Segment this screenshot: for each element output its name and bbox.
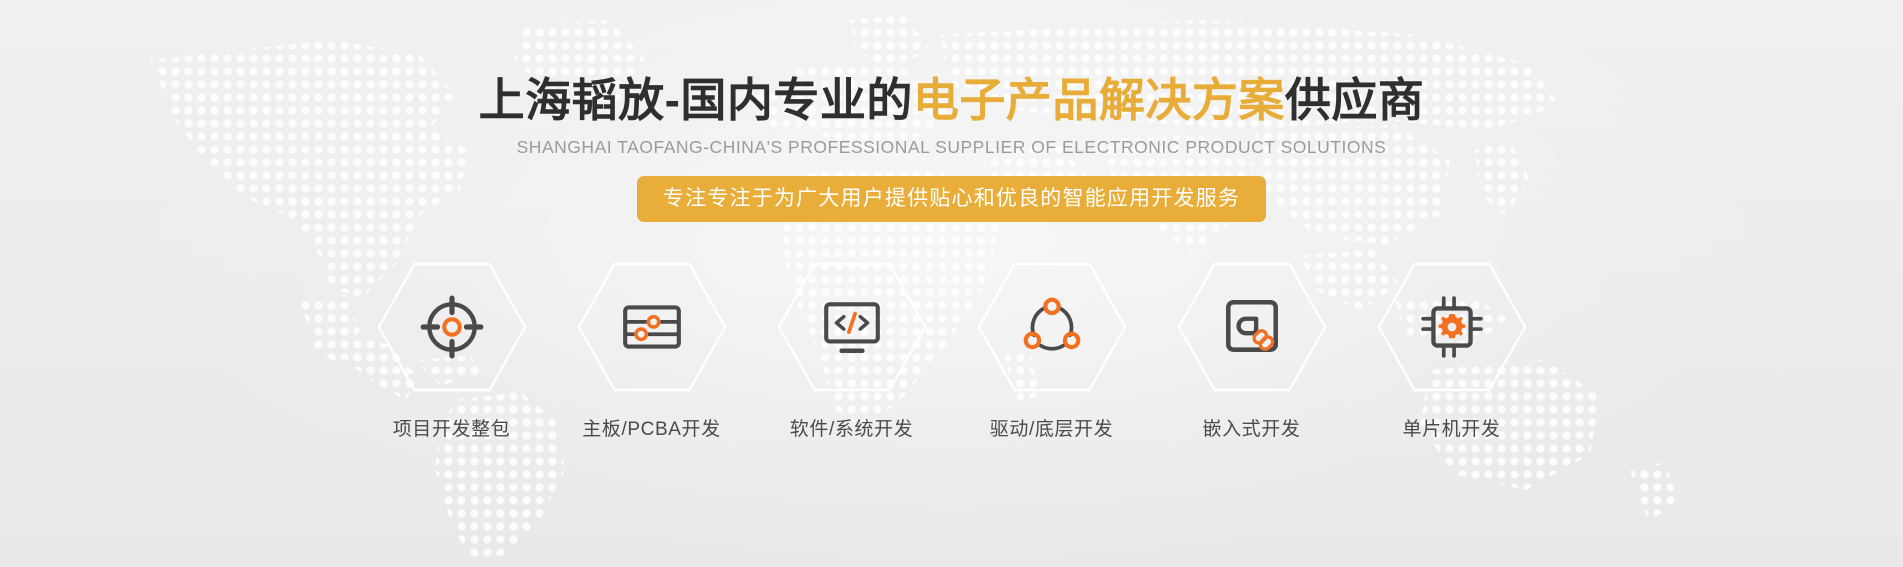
hex-frame [977,262,1127,392]
service-item-pcba[interactable]: 主板/PCBA开发 [557,262,747,441]
service-label: 项目开发整包 [393,414,511,441]
network-nodes-icon [1019,294,1085,360]
hex-frame [577,262,727,392]
service-label: 单片机开发 [1402,414,1500,441]
hex-frame [777,262,927,392]
embedded-chip-link-icon [1219,294,1285,360]
service-label: 嵌入式开发 [1202,414,1300,441]
page-title: 上海韬放-国内专业的电子产品解决方案供应商 [0,74,1903,126]
crosshair-target-icon [419,294,485,360]
service-label: 软件/系统开发 [790,414,913,441]
service-item-embedded[interactable]: 嵌入式开发 [1157,262,1347,441]
badge-row: 专注专注于为广大用户提供贴心和优良的智能应用开发服务 [0,176,1903,222]
hero-banner: 上海韬放-国内专业的电子产品解决方案供应商 SHANGHAI TAOFANG-C… [0,0,1903,567]
headline-block: 上海韬放-国内专业的电子产品解决方案供应商 SHANGHAI TAOFANG-C… [0,74,1903,222]
hex-frame [377,262,527,392]
headline-tail: 供应商 [1285,74,1425,126]
service-label: 驱动/底层开发 [990,414,1113,441]
service-item-driver-lowlevel[interactable]: 驱动/底层开发 [957,262,1147,441]
monitor-code-icon [819,294,885,360]
hex-frame [1377,262,1527,392]
service-label: 主板/PCBA开发 [582,414,720,441]
service-item-mcu[interactable]: 单片机开发 [1357,262,1547,441]
pcb-board-icon [619,294,685,360]
headline-lead: 上海韬放-国内专业的 [479,74,913,126]
service-item-project-package[interactable]: 项目开发整包 [357,262,547,441]
headline-accent: 电子产品解决方案 [913,74,1285,126]
service-item-software-system[interactable]: 软件/系统开发 [757,262,947,441]
cpu-gear-icon [1419,294,1485,360]
subtitle-english: SHANGHAI TAOFANG-CHINA'S PROFESSIONAL SU… [0,137,1903,158]
hex-frame [1177,262,1327,392]
tagline-badge: 专注专注于为广大用户提供贴心和优良的智能应用开发服务 [637,176,1266,222]
service-list: 项目开发整包 主板/PCBA开发 [357,262,1547,441]
